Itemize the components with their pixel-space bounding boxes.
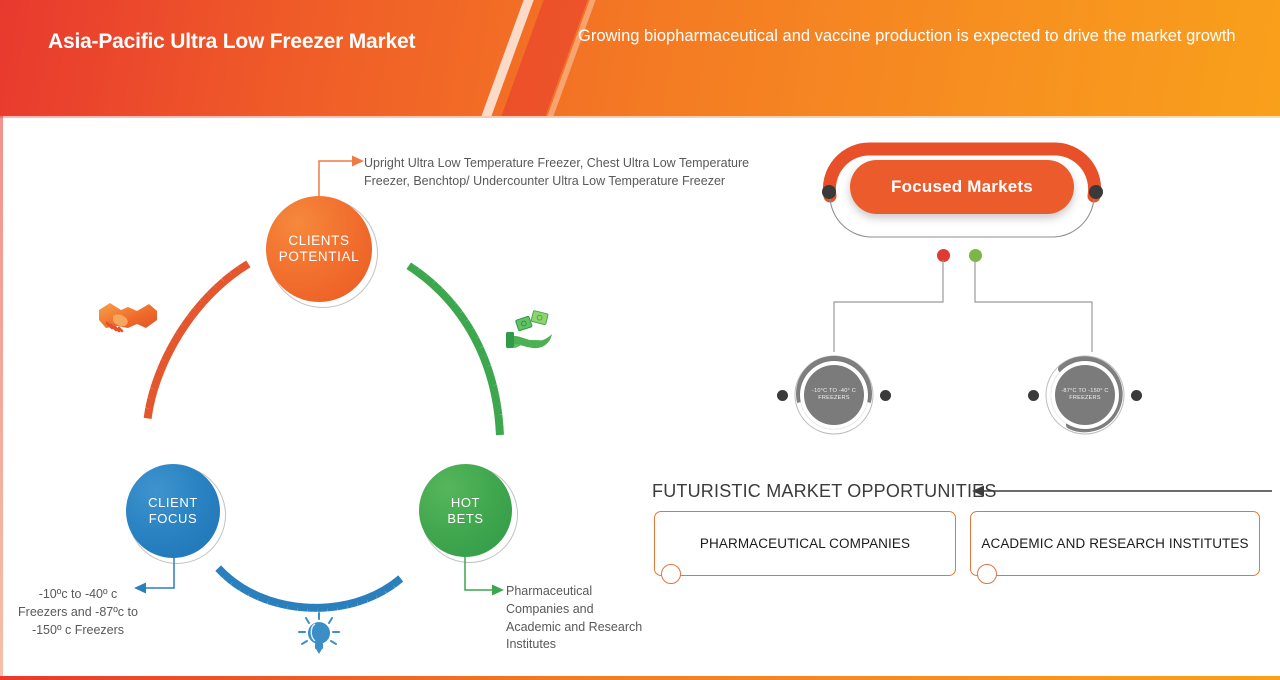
dotted-arc-blue — [221, 571, 400, 608]
dial-low-temp-face: -10°C TO -40° C FREEZERS — [800, 361, 868, 429]
node-clients-potential[interactable]: CLIENTS POTENTIAL — [266, 196, 372, 302]
focused-markets-right-knob — [1089, 185, 1103, 199]
focused-markets-left-knob — [822, 185, 836, 199]
footer-accent-bar — [0, 676, 1280, 680]
clients-potential-callout: Upright Ultra Low Temperature Freezer, C… — [364, 155, 764, 191]
focused-markets-button[interactable]: Focused Markets — [850, 160, 1074, 214]
dial-low-temp-right-knob — [880, 390, 891, 401]
header-subtitle: Growing biopharmaceutical and vaccine pr… — [578, 25, 1248, 48]
hot-bets-callout: Pharmaceutical Companies and Academic an… — [506, 583, 646, 654]
dial-ultra-low-temp-left-knob — [1028, 390, 1039, 401]
node-client-focus[interactable]: CLIENT FOCUS — [126, 464, 220, 558]
futuristic-item-2-label: ACADEMIC AND RESEARCH INSTITUTES — [981, 536, 1248, 551]
futuristic-item-2-knob — [977, 564, 997, 584]
clients-potential-label-1: CLIENTS — [279, 233, 359, 249]
futuristic-item-pharmaceutical[interactable]: PHARMACEUTICAL COMPANIES — [654, 511, 956, 576]
header-banner: Asia-Pacific Ultra Low Freezer Market Gr… — [0, 0, 1280, 116]
page-title: Asia-Pacific Ultra Low Freezer Market — [48, 28, 478, 56]
dial-low-temp-line2: FREEZERS — [818, 395, 849, 402]
dial-ultra-low-temp-line2: FREEZERS — [1069, 395, 1100, 402]
futuristic-heading: FUTURISTIC MARKET OPPORTUNITIES — [652, 481, 997, 502]
hot-bets-label-2: BETS — [447, 511, 483, 527]
hot-bets-label-1: HOT — [447, 495, 483, 511]
focused-markets-group: Focused Markets — [812, 140, 1112, 252]
dial-bracket-connectors — [820, 260, 1120, 355]
client-focus-callout: -10ºc to -40º c Freezers and -87ºc to -1… — [18, 586, 138, 639]
dial-low-temp[interactable]: -10°C TO -40° C FREEZERS — [789, 350, 879, 440]
lightbulb-icon — [297, 613, 341, 659]
dial-ultra-low-temp[interactable]: -87°C TO -150° C FREEZERS — [1040, 350, 1130, 440]
handshake-icon — [97, 294, 159, 340]
focused-markets-label: Focused Markets — [891, 177, 1033, 197]
node-hot-bets[interactable]: HOT BETS — [419, 464, 512, 557]
client-focus-label-1: CLIENT — [148, 495, 198, 511]
client-focus-label-2: FOCUS — [148, 511, 198, 527]
infographic-page: Asia-Pacific Ultra Low Freezer Market Gr… — [0, 0, 1280, 680]
clients-potential-label-2: POTENTIAL — [279, 249, 359, 265]
futuristic-item-1-knob — [661, 564, 681, 584]
hand-money-icon — [506, 310, 554, 352]
dotted-arc-orange — [148, 266, 245, 416]
dial-ultra-low-temp-right-knob — [1131, 390, 1142, 401]
futuristic-heading-arrow — [972, 482, 1272, 504]
dial-low-temp-left-knob — [777, 390, 788, 401]
dial-ultra-low-temp-face: -87°C TO -150° C FREEZERS — [1051, 361, 1119, 429]
dotted-arc-green — [412, 268, 500, 438]
futuristic-item-1-label: PHARMACEUTICAL COMPANIES — [700, 536, 910, 551]
futuristic-item-academic[interactable]: ACADEMIC AND RESEARCH INSTITUTES — [970, 511, 1260, 576]
dial-low-temp-line1: -10°C TO -40° C — [812, 388, 856, 395]
dial-ultra-low-temp-line1: -87°C TO -150° C — [1061, 388, 1108, 395]
